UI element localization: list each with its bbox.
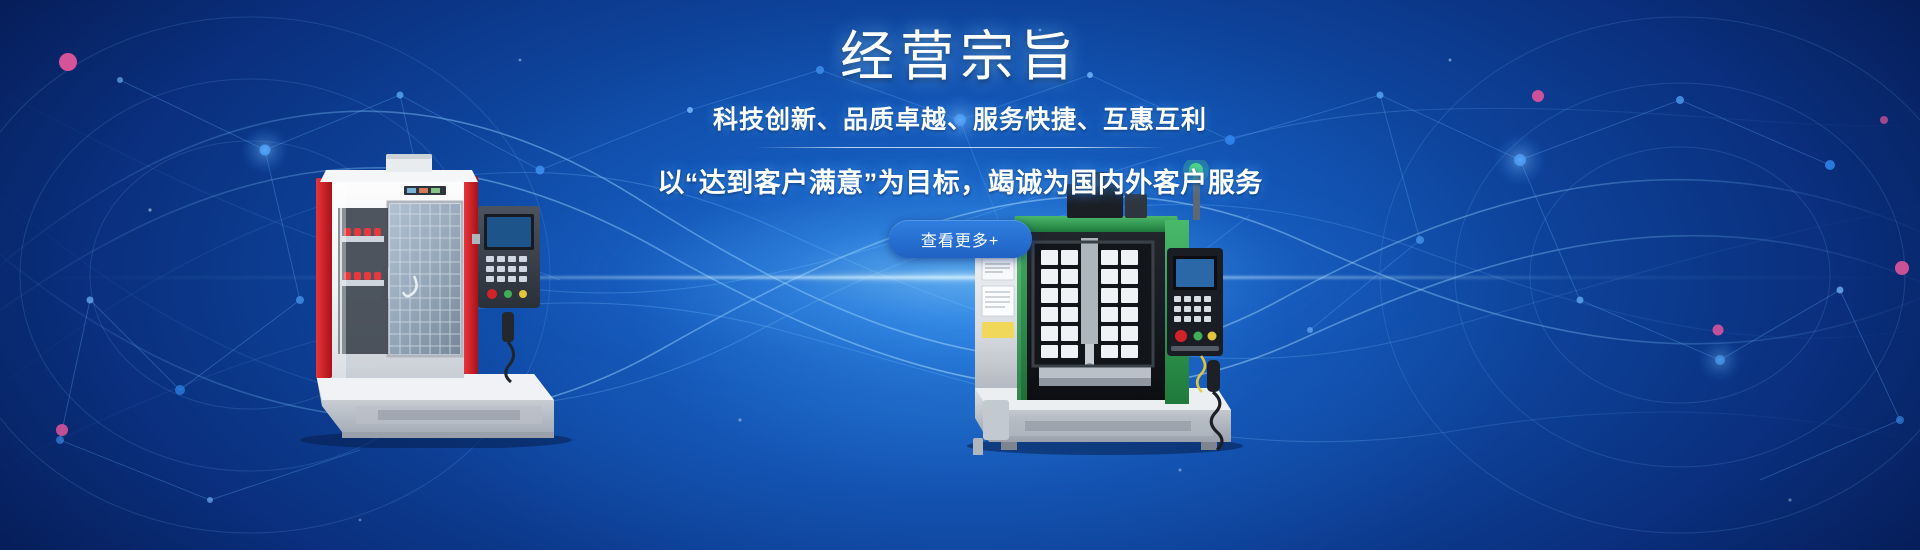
hero-banner: 经营宗旨 科技创新、品质卓越、服务快捷、互惠互利 以“达到客户满意”为目标，竭诚… bbox=[0, 0, 1920, 550]
banner-content: 经营宗旨 科技创新、品质卓越、服务快捷、互惠互利 以“达到客户满意”为目标，竭诚… bbox=[0, 0, 1920, 550]
view-more-button[interactable]: 查看更多+ bbox=[889, 220, 1032, 258]
banner-tagline: 以“达到客户满意”为目标，竭诚为国内外客户服务 bbox=[657, 161, 1263, 200]
banner-subtitle: 科技创新、品质卓越、服务快捷、互惠互利 bbox=[713, 100, 1207, 136]
text-divider bbox=[755, 147, 1165, 148]
page-title: 经营宗旨 bbox=[840, 26, 1080, 90]
